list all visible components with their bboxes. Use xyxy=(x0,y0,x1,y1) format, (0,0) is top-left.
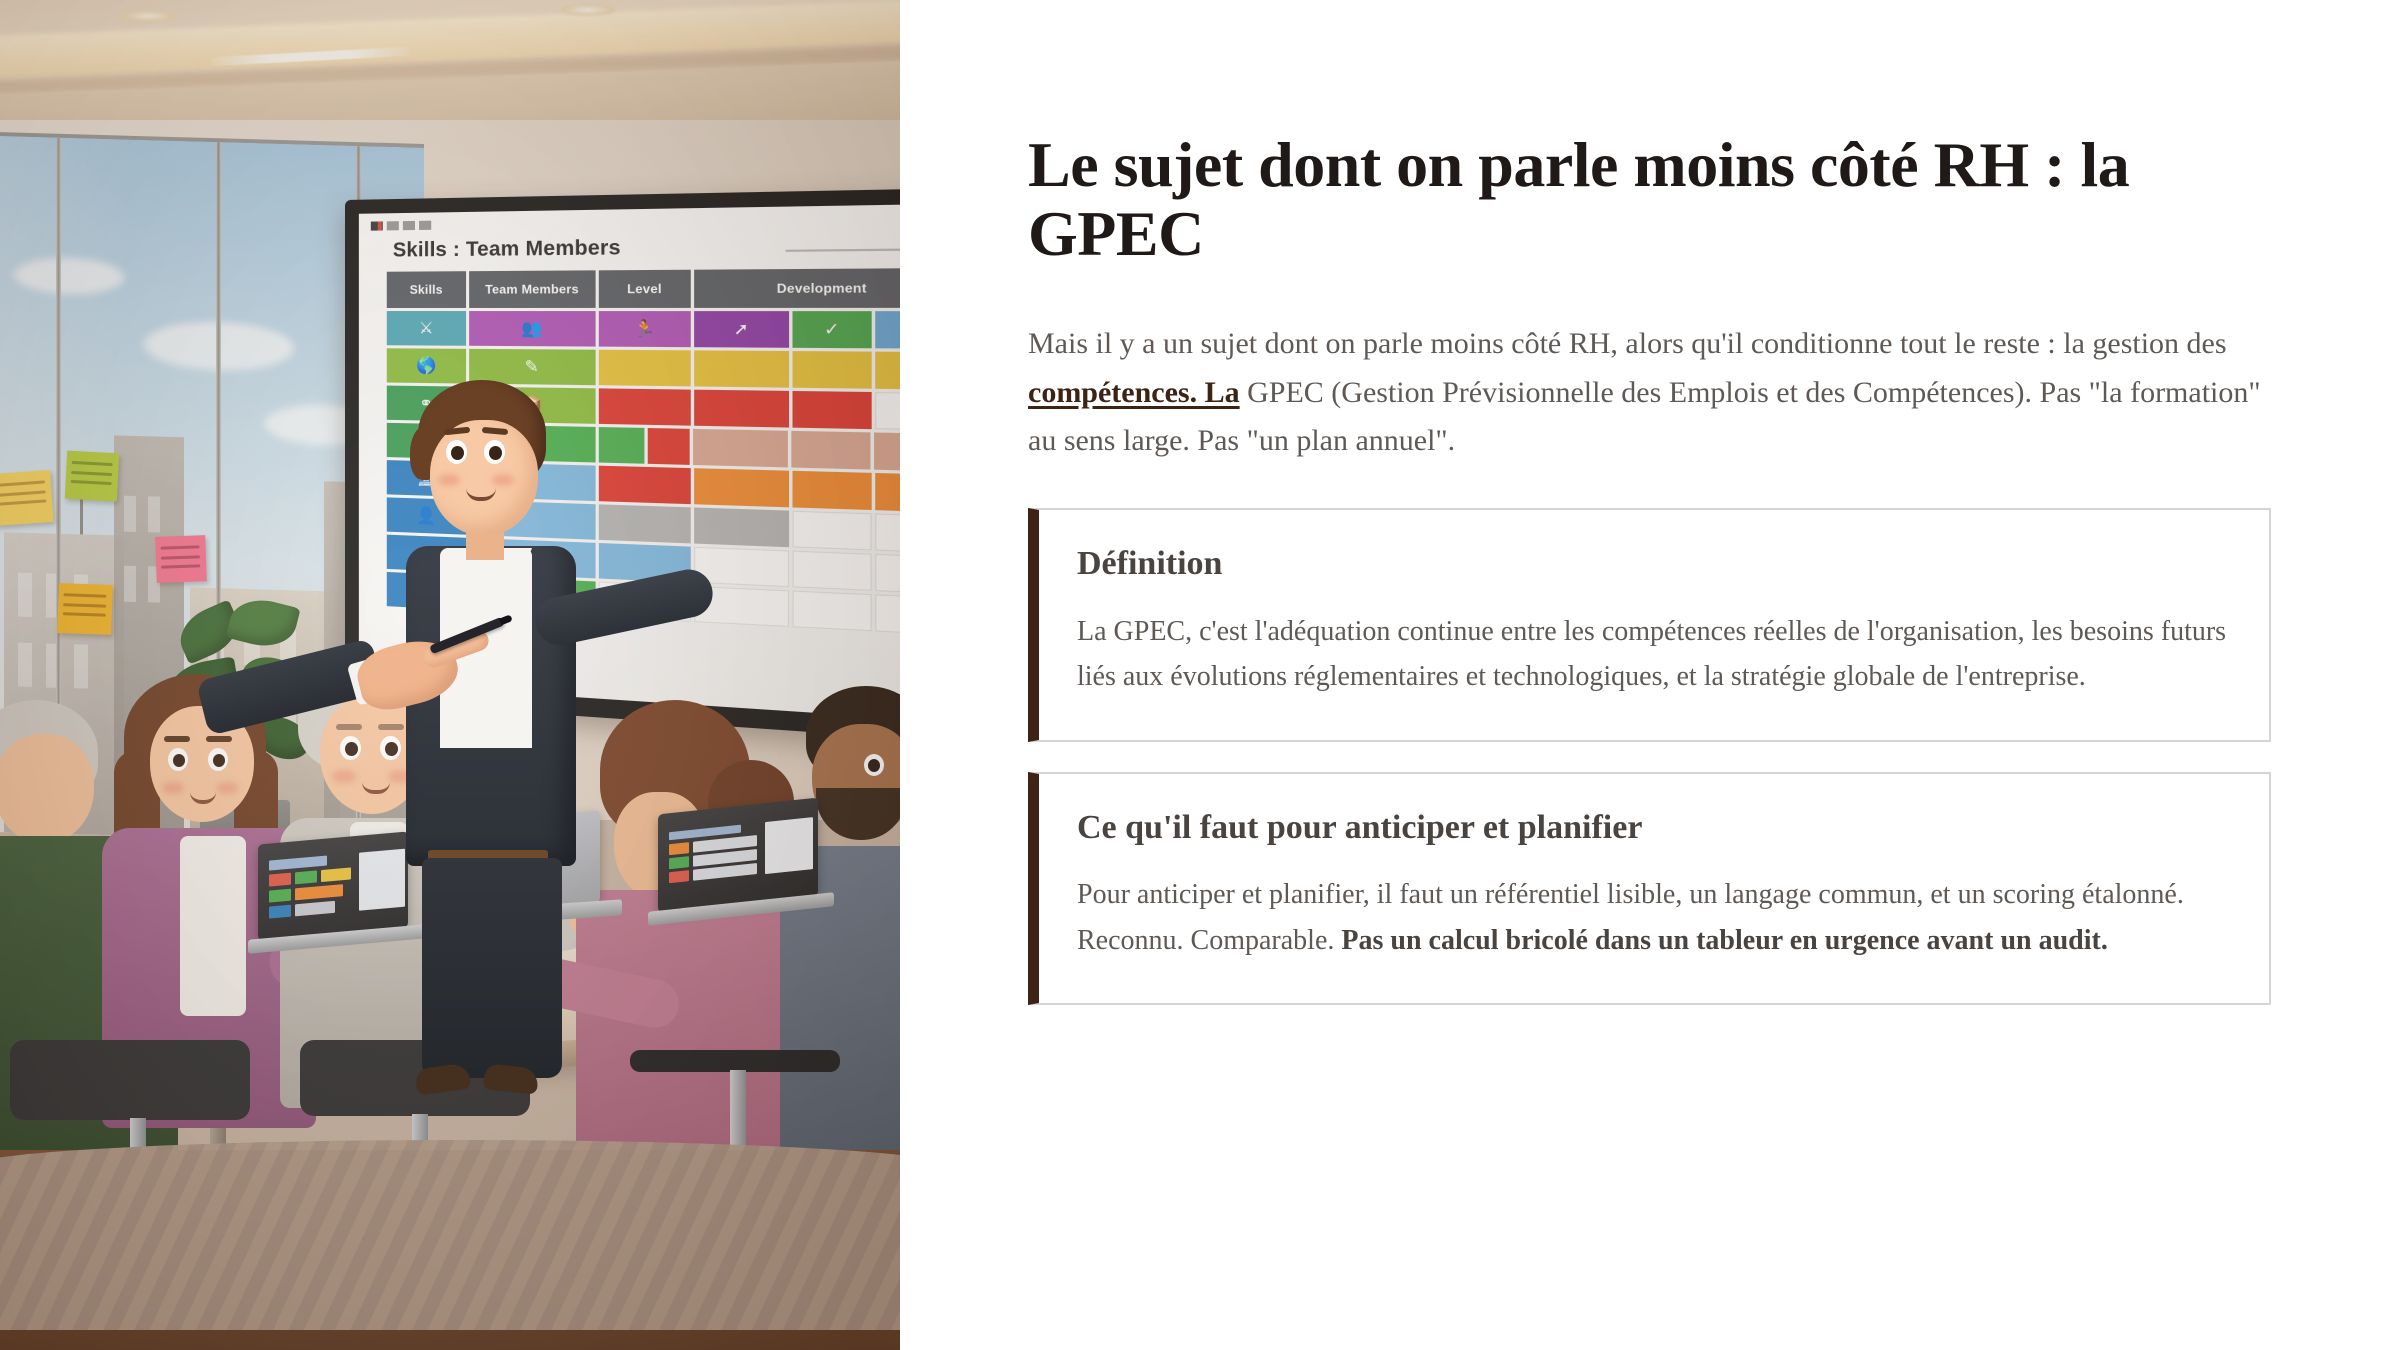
presenter-eye xyxy=(484,440,505,464)
runner-icon: 🏃 xyxy=(599,311,691,347)
pointing-hand xyxy=(300,625,490,745)
downlight-icon xyxy=(120,10,176,22)
matrix-col-team-members: Team Members xyxy=(469,270,595,308)
presenter-eye xyxy=(446,440,467,464)
matrix-col-skills: Skills xyxy=(387,271,466,308)
anticipate-card: Ce qu'il faut pour anticiper et planifie… xyxy=(1028,772,2271,1006)
matrix-header-row: Skills Team Members Level Development xyxy=(387,268,900,308)
laptop[interactable] xyxy=(648,806,838,936)
check-icon: ✓ xyxy=(792,311,871,348)
whiteboard-title-rule xyxy=(786,248,900,252)
card-body: Pour anticiper et planifier, il faut un … xyxy=(1077,872,2229,963)
competences-link[interactable]: compétences. La xyxy=(1028,376,1240,409)
sticky-note-green xyxy=(65,451,119,502)
sticky-note-pink xyxy=(155,535,207,583)
content-panel: Le sujet dont on parle moins côté RH : l… xyxy=(900,0,2400,1350)
sticky-note-orange xyxy=(57,583,113,635)
matrix-col-level: Level xyxy=(599,270,691,308)
page-title: Le sujet dont on parle moins côté RH : l… xyxy=(1028,0,2208,268)
area-rug xyxy=(0,1140,900,1330)
downlight-icon xyxy=(560,4,616,16)
people-icon: 👥 xyxy=(469,311,595,347)
matrix-col-development: Development xyxy=(694,268,900,308)
sticky-note-yellow xyxy=(0,470,54,526)
card-title: Définition xyxy=(1077,544,2229,585)
whiteboard-title: Skills : Team Members xyxy=(393,237,621,263)
growth-icon: ➚ xyxy=(694,311,789,348)
target-icon: ◎ xyxy=(875,311,900,349)
matrix-icon-row: ⚔ 👥 🏃 ➚ ✓ ◎ xyxy=(387,311,900,349)
card-title: Ce qu'il faut pour anticiper et planifie… xyxy=(1077,808,2229,849)
fire-skill-icon: ⚔ xyxy=(387,311,466,346)
screen-status-icons xyxy=(371,221,431,231)
card-body: La GPEC, c'est l'adéquation continue ent… xyxy=(1077,609,2229,700)
presenter-legs xyxy=(422,858,562,1078)
lede-paragraph: Mais il y a un sujet dont on parle moins… xyxy=(1028,320,2272,466)
card-body-strong: Pas un calcul bricolé dans un tableur en… xyxy=(1341,925,2107,956)
lede-before: Mais il y a un sujet dont on parle moins… xyxy=(1028,327,2227,360)
definition-card: Définition La GPEC, c'est l'adéquation c… xyxy=(1028,508,2271,742)
illustration-panel: Skills : Team Members Skills Team Member… xyxy=(0,0,900,1350)
meeting-room-scene: Skills : Team Members Skills Team Member… xyxy=(0,0,900,1350)
globe-icon: 🌎 xyxy=(387,348,466,383)
slide-root: Skills : Team Members Skills Team Member… xyxy=(0,0,2400,1350)
card-body-text: La GPEC, c'est l'adéquation continue ent… xyxy=(1077,616,2226,692)
